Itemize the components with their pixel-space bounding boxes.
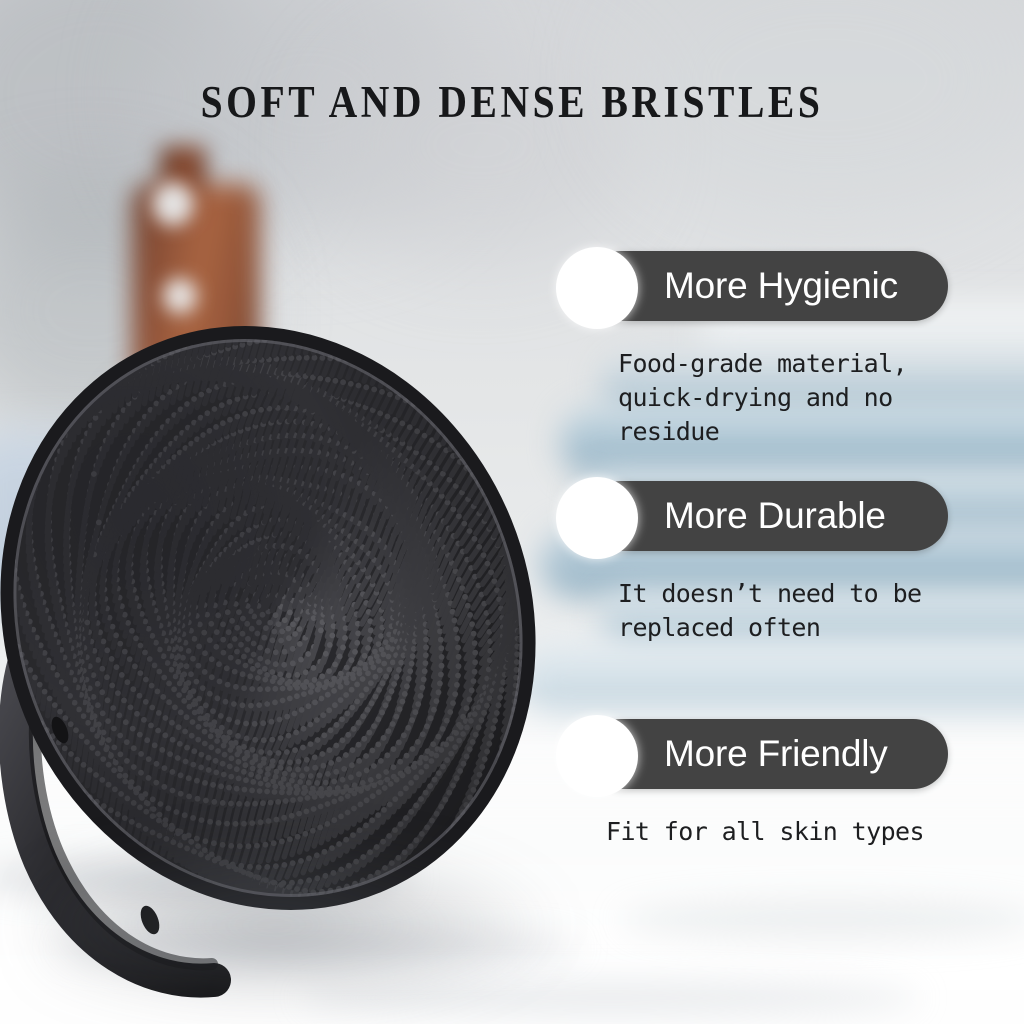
bedsheet-fold [620, 900, 1024, 940]
page-title: SOFT AND DENSE BRISTLES [61, 76, 962, 128]
feature-title: More Hygienic [664, 251, 898, 321]
feature-description: It doesn’t need to be replaced often [618, 577, 921, 645]
bottle-cap-highlight [152, 182, 194, 226]
feature-badge[interactable]: More Durable [556, 481, 948, 551]
feature-description: Fit for all skin types [606, 815, 924, 849]
background-blur-blob [330, 30, 630, 260]
feature-badge[interactable]: More Hygienic [556, 251, 948, 321]
badge-bullet-circle-icon [556, 247, 638, 329]
badge-bullet-circle-icon [556, 477, 638, 559]
feature-badge[interactable]: More Friendly [556, 719, 948, 789]
product-image-silicone-body-scrubber [0, 300, 620, 1000]
feature-title: More Friendly [664, 719, 888, 789]
product-drop-shadow [40, 840, 560, 1010]
badge-bullet-circle-icon [556, 715, 638, 797]
feature-description: Food-grade material, quick-drying and no… [618, 347, 907, 449]
feature-title: More Durable [664, 481, 886, 551]
feature-block-more-hygienic: More Hygienic Food-grade material, quick… [556, 251, 948, 321]
feature-block-more-durable: More Durable It doesn’t need to be repla… [556, 481, 948, 551]
feature-block-more-friendly: More Friendly Fit for all skin types [556, 719, 948, 789]
product-feature-infographic: SOFT AND DENSE BRISTLES More Hygienic Fo… [0, 0, 1024, 1024]
